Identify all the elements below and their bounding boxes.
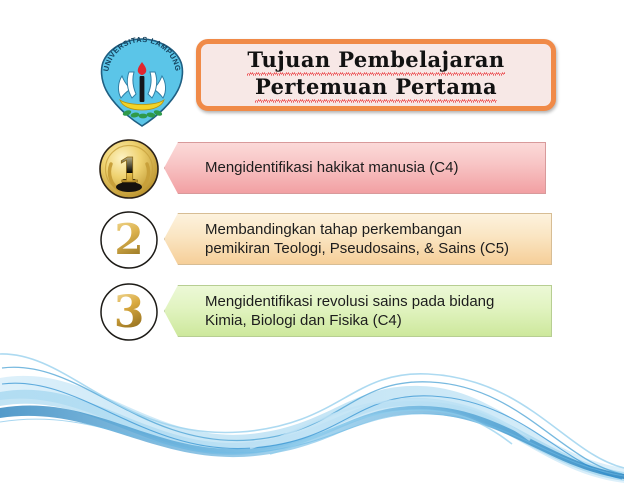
objective-text-3: Mengidentifikasi revolusi sains pada bid… xyxy=(205,292,494,331)
page-title-banner: Tujuan Pembelajaran Pertemuan Pertama xyxy=(196,39,556,111)
objective-badge-1: 1 xyxy=(98,138,160,200)
logo-shield-graphic: UNIVERSITAS LAMPUNG xyxy=(96,36,188,130)
objective-bar-3: Mengidentifikasi revolusi sains pada bid… xyxy=(164,285,552,337)
universitas-lampung-logo: UNIVERSITAS LAMPUNG xyxy=(96,36,188,130)
page-title-line-2: Pertemuan Pertama xyxy=(255,75,497,102)
number-circle-icon: 3 xyxy=(98,281,160,343)
objective-bar-1: Mengidentifikasi hakikat manusia (C4) xyxy=(164,142,546,194)
badge-number-3: 3 xyxy=(114,287,145,338)
number-circle-icon: 2 xyxy=(98,209,160,271)
blue-wave-decoration xyxy=(0,348,624,483)
page-title-line-2-text: Pertemuan Pertama xyxy=(255,75,497,100)
page-title-line-1-text: Tujuan Pembelajaran xyxy=(247,48,504,73)
logo-torch-handle xyxy=(140,76,145,102)
medal-number-1: 1 xyxy=(117,151,141,191)
badge-number-2: 2 xyxy=(114,215,143,264)
page-title-line-1: Tujuan Pembelajaran xyxy=(247,48,504,75)
objective-badge-3: 3 xyxy=(98,281,160,343)
objective-bar-2: Membandingkan tahap perkembangan pemikir… xyxy=(164,213,552,265)
wave-ribbon-graphic xyxy=(0,348,624,483)
objective-text-1: Mengidentifikasi hakikat manusia (C4) xyxy=(205,158,458,178)
objective-badge-2: 2 xyxy=(98,209,160,271)
objective-text-2: Membandingkan tahap perkembangan pemikir… xyxy=(205,220,509,259)
gold-medal-icon: 1 xyxy=(98,138,160,200)
